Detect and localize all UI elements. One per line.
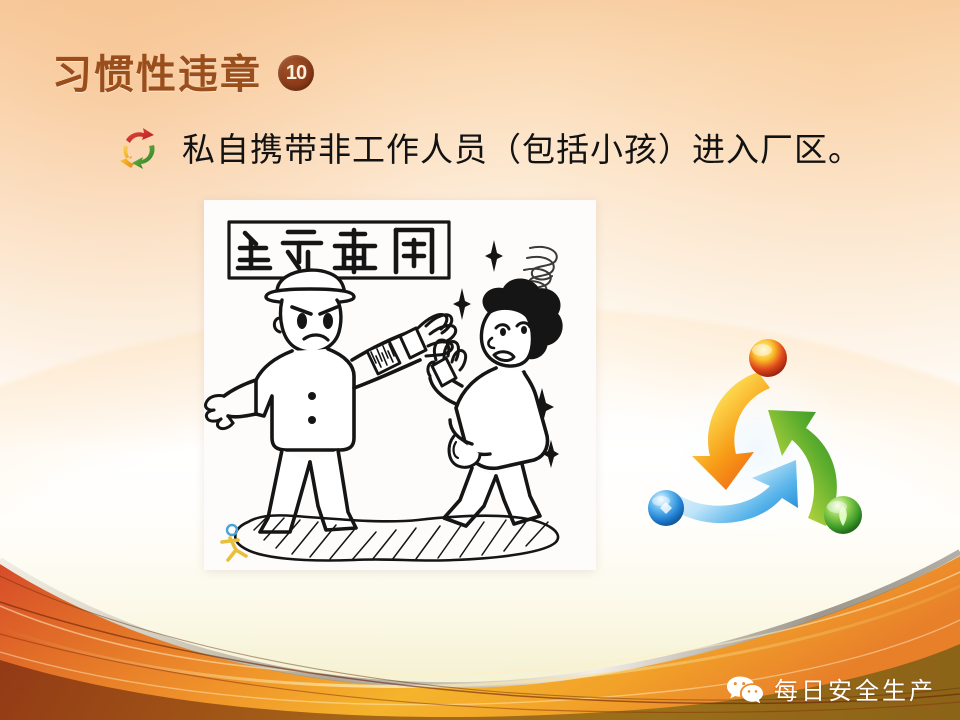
bullet-text: 私自携带非工作人员（包括小孩）进入厂区。 bbox=[182, 123, 862, 171]
page-title: 习惯性违章 bbox=[52, 42, 262, 100]
title-number-badge: 10 bbox=[278, 55, 314, 91]
safety-violation-cartoon bbox=[204, 200, 596, 570]
three-arrow-cycle-graphic bbox=[640, 332, 872, 552]
recycle-cycle-icon bbox=[114, 123, 162, 171]
wechat-icon bbox=[726, 674, 764, 704]
blue-globe-orb bbox=[648, 490, 684, 526]
slide-root: 习惯性违章 10 bbox=[0, 0, 960, 720]
red-gold-orb bbox=[749, 339, 787, 377]
slide-title-row: 习惯性违章 10 bbox=[52, 42, 314, 100]
bullet-row: 私自携带非工作人员（包括小孩）进入厂区。 bbox=[114, 123, 862, 171]
watermark: 每日安全生产 bbox=[726, 671, 936, 706]
watermark-text: 每日安全生产 bbox=[774, 671, 936, 706]
green-leaf-orb bbox=[824, 496, 862, 534]
